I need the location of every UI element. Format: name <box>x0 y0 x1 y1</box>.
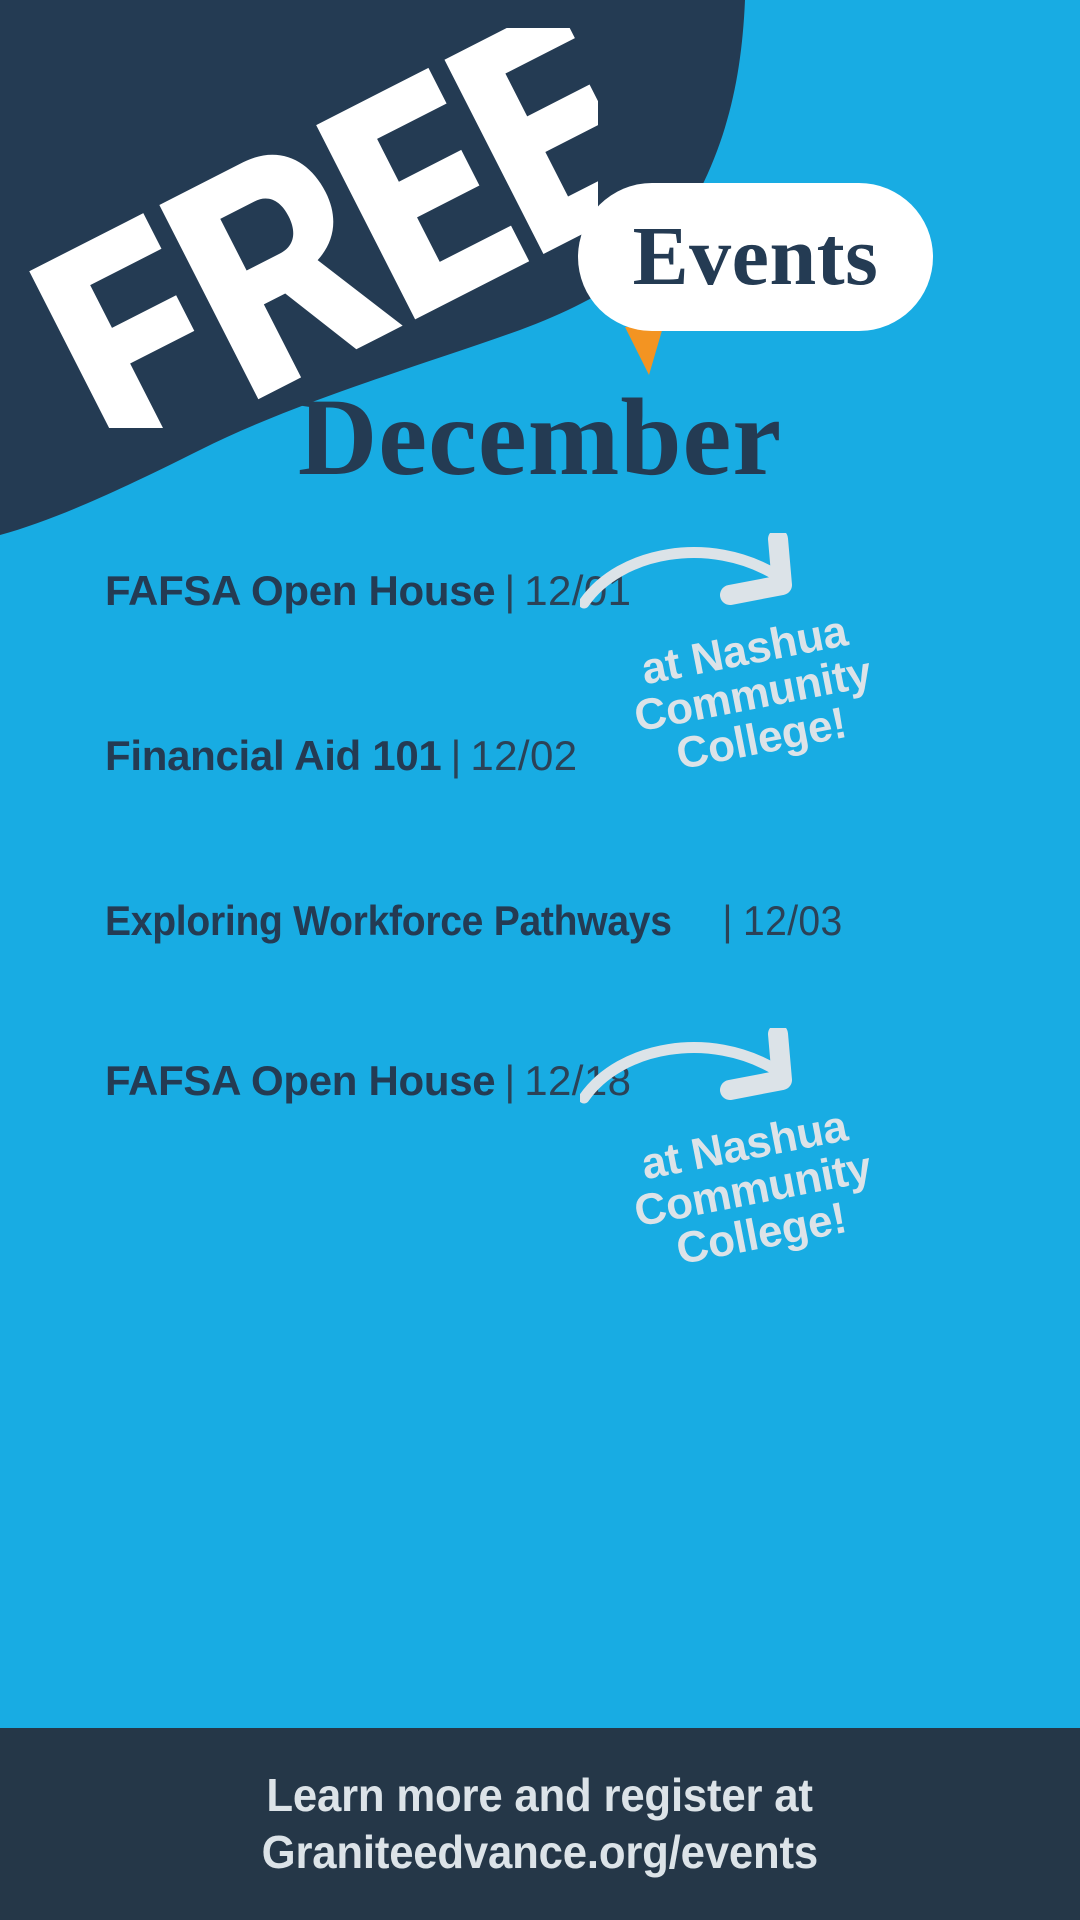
event-date: 12/02 <box>470 732 577 779</box>
event-separator: | <box>495 1057 524 1104</box>
event-row: FAFSA Open House|12/18 <box>105 1060 631 1102</box>
event-row: Financial Aid 101|12/02 <box>105 735 578 777</box>
curved-arrow-icon <box>580 1028 820 1123</box>
events-bubble-label: Events <box>633 215 879 299</box>
event-row: FAFSA Open House|12/01 <box>105 570 631 612</box>
event-name: Financial Aid 101 <box>105 732 441 779</box>
footer-url[interactable]: Graniteedvance.org/events <box>262 1824 818 1881</box>
events-bubble-tail <box>625 327 663 375</box>
page-title: December <box>0 382 1080 492</box>
events-bubble: Events <box>578 183 933 331</box>
footer-bar: Learn more and register at Graniteedvanc… <box>0 1728 1080 1920</box>
poster-canvas: Events December FAFSA Open House|12/01 F… <box>0 0 1080 1920</box>
curved-arrow-icon <box>580 533 820 628</box>
event-date: 12/03 <box>743 900 843 942</box>
event-row: Exploring Workforce Pathways|12/03 <box>105 900 850 942</box>
event-separator: | <box>441 732 470 779</box>
event-name: FAFSA Open House <box>105 1057 495 1104</box>
event-name: FAFSA Open House <box>105 567 495 614</box>
footer-line-1: Learn more and register at <box>267 1767 813 1824</box>
event-separator: | <box>714 900 741 942</box>
callout-note: at Nashua Community College! <box>608 603 899 787</box>
event-name: Exploring Workforce Pathways <box>105 900 672 942</box>
callout-note: at Nashua Community College! <box>608 1098 899 1282</box>
event-separator: | <box>495 567 524 614</box>
